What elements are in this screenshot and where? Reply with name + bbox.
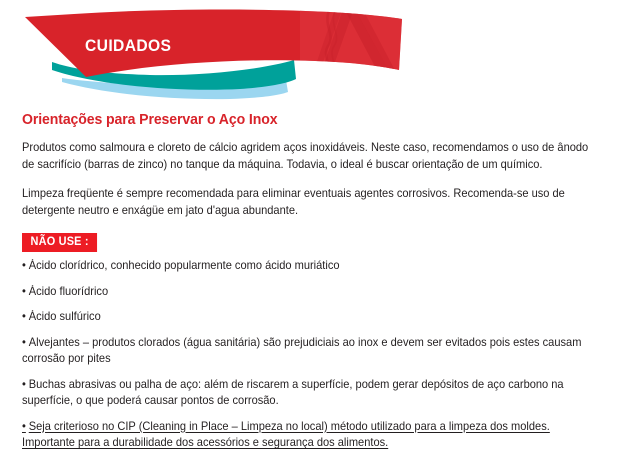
list-item: •Ácido clorídrico, conhecido popularment… <box>22 258 601 275</box>
banner-title: CUIDADOS <box>85 36 171 56</box>
prohibited-items-list: •Ácido clorídrico, conhecido popularment… <box>22 258 602 452</box>
list-item: •Seja criterioso no CIP (Cleaning in Pla… <box>22 419 601 452</box>
document-content: Orientações para Preservar o Aço Inox Pr… <box>22 112 602 461</box>
intro-paragraph-1: Produtos como salmoura e cloreto de cálc… <box>22 140 601 173</box>
bullet-marker-icon: • <box>22 378 26 391</box>
list-item-label: Seja criterioso no CIP (Cleaning in Plac… <box>22 420 550 450</box>
list-item-label: Ácido fluorídrico <box>29 285 108 298</box>
list-item-label: Ácido sulfúrico <box>29 310 101 323</box>
chevron-watermark-icon <box>300 0 405 104</box>
bullet-marker-icon: • <box>22 336 26 349</box>
warning-badge-row: NÃO USE : <box>22 232 602 252</box>
intro-paragraph-2: Limpeza freqüente é sempre recomendada p… <box>22 186 601 219</box>
list-item-label: Buchas abrasivas ou palha de aço: além d… <box>22 378 564 408</box>
bullet-marker-icon: • <box>22 285 26 298</box>
bullet-marker-icon: • <box>22 310 26 323</box>
bullet-marker-icon: • <box>22 259 26 272</box>
status-badge: NÃO USE : <box>22 233 97 252</box>
bullet-marker-icon: • <box>22 420 26 433</box>
list-item-label: Ácido clorídrico, conhecido popularmente… <box>29 259 340 272</box>
list-item: •Ácido sulfúrico <box>22 309 601 326</box>
list-item: •Alvejantes – produtos clorados (água sa… <box>22 335 601 368</box>
header-banner: CUIDADOS <box>0 0 620 104</box>
document-page: CUIDADOS Orientações para Preservar o Aç… <box>0 0 620 460</box>
list-item: •Ácido fluorídrico <box>22 284 601 301</box>
list-item: •Buchas abrasivas ou palha de aço: além … <box>22 377 601 410</box>
page-title: Orientações para Preservar o Aço Inox <box>22 112 585 128</box>
list-item-label: Alvejantes – produtos clorados (água san… <box>22 336 581 366</box>
